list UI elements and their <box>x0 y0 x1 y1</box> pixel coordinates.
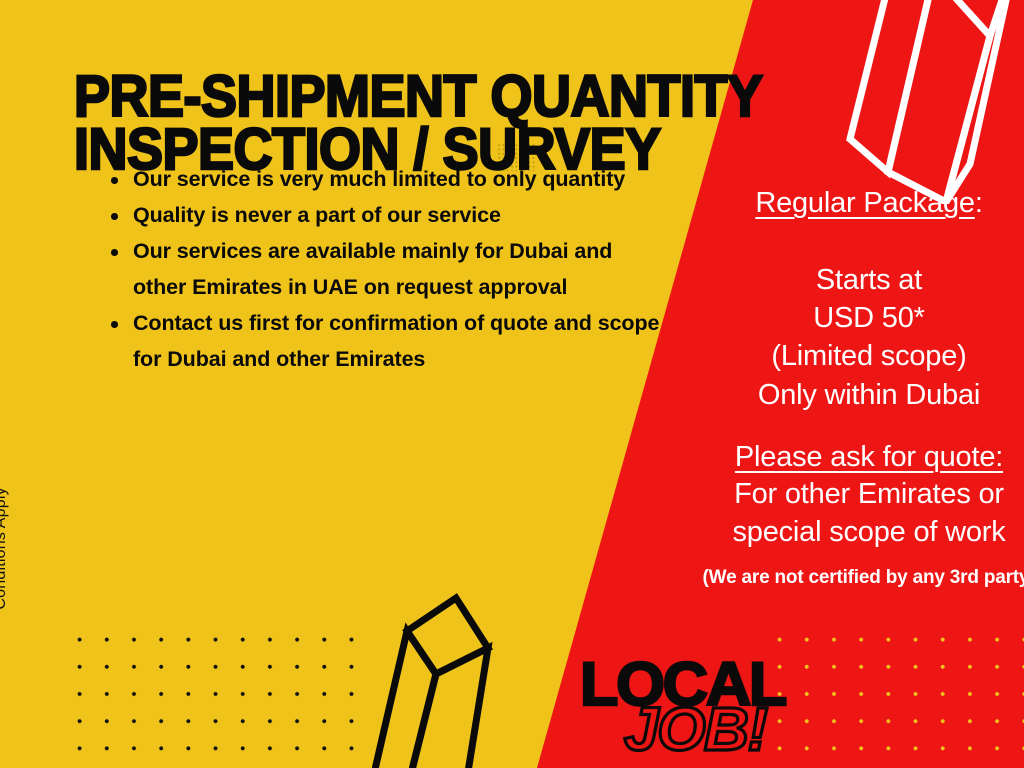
pricing-panel: Regular Package: Starts at USD 50* (Limi… <box>628 186 1024 589</box>
certification-disclaimer: (We are not certified by any 3rd party) <box>628 567 1024 589</box>
quote-scope-line: For other Emirates or <box>628 475 1024 513</box>
poster-canvas: PRE-SHIPMENT QUANTITY INSPECTION / SURVE… <box>0 0 1024 768</box>
dot-grid-pattern-right <box>766 626 1024 768</box>
quote-scope-line: special scope of work <box>628 513 1024 551</box>
ask-for-quote-heading: Please ask for quote: <box>628 440 1024 475</box>
local-job-logo: LOCAL JOB! <box>578 654 788 758</box>
service-bullet-list: Our service is very much limited to only… <box>104 162 664 378</box>
price-line: (Limited scope) <box>628 337 1024 375</box>
list-item: Contact us first for confirmation of quo… <box>104 306 664 377</box>
list-item: Quality is never a part of our service <box>104 198 664 234</box>
list-item: Our service is very much limited to only… <box>104 162 664 198</box>
price-line: USD 50* <box>628 299 1024 337</box>
price-block: Starts at USD 50* (Limited scope) Only w… <box>628 261 1024 414</box>
spacer <box>628 414 1024 440</box>
quote-scope-block: For other Emirates or special scope of w… <box>628 475 1024 552</box>
page-title: PRE-SHIPMENT QUANTITY INSPECTION / SURVE… <box>74 70 651 177</box>
dot-grid-pattern-left <box>66 626 358 768</box>
regular-package-heading-colon: : <box>975 187 983 219</box>
regular-package-heading-text: Regular Package <box>755 187 974 219</box>
page-title-line-1: PRE-SHIPMENT QUANTITY <box>74 70 651 123</box>
spacer <box>628 551 1024 567</box>
conditions-apply-note: *Conditions Apply <box>0 487 10 616</box>
price-line: Only within Dubai <box>628 376 1024 414</box>
list-item: Our services are available mainly for Du… <box>104 234 664 305</box>
price-line: Starts at <box>628 261 1024 299</box>
regular-package-heading: Regular Package: <box>628 186 1024 221</box>
logo-word-job: JOB! <box>624 699 767 760</box>
spacer <box>628 221 1024 261</box>
